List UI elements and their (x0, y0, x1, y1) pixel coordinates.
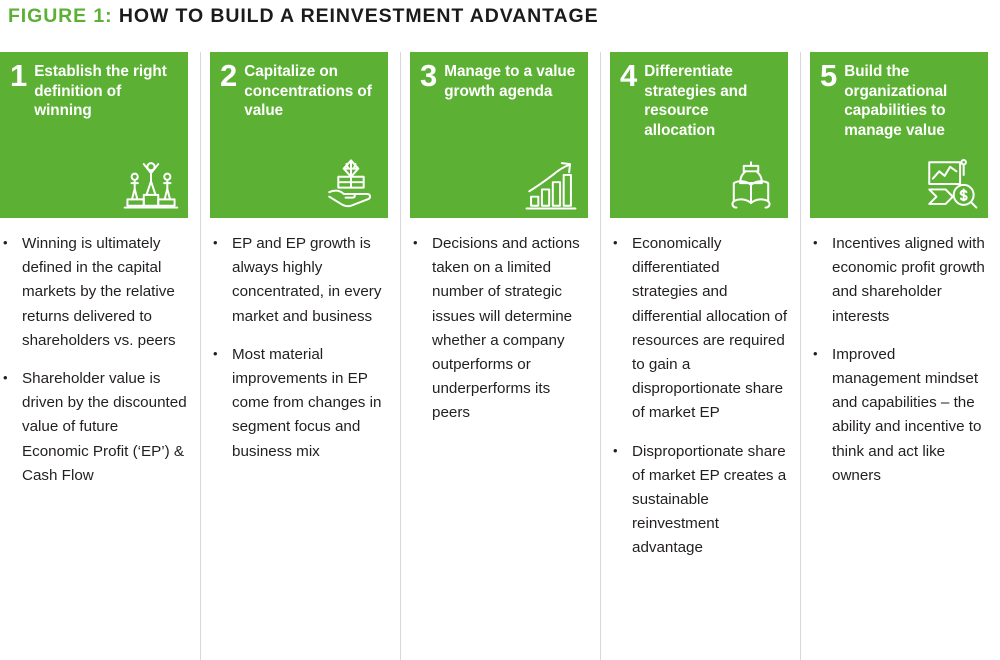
card-2-title: Capitalize on concentrations of value (244, 62, 378, 121)
card-5: 5 Build the organizational capabilities … (810, 52, 988, 218)
card-2: 2 Capitalize on concentrations of value (210, 52, 388, 218)
card-5-title: Build the organizational capabilities to… (844, 62, 978, 140)
card-2-number: 2 (220, 61, 237, 91)
list-item: Improved management mindset and capabili… (810, 343, 988, 488)
card-1-head: 1 Establish the right definition of winn… (10, 62, 178, 121)
figure-headline: HOW TO BUILD A REINVESTMENT ADVANTAGE (119, 5, 599, 27)
card-3-head: 3 Manage to a value growth agenda (420, 62, 578, 101)
hand-holding-gem-icon (322, 155, 380, 213)
list-item: EP and EP growth is always highly concen… (210, 232, 388, 329)
column-5: 5 Build the organizational capabilities … (800, 52, 1000, 660)
card-4-head: 4 Differentiate strategies and resource … (620, 62, 778, 140)
chess-strategy-icon (722, 155, 780, 213)
card-2-head: 2 Capitalize on concentrations of value (220, 62, 378, 121)
bullet-list-5: Incentives aligned with economic profit … (810, 218, 988, 488)
bullet-list-3: Decisions and actions taken on a limited… (410, 218, 588, 426)
list-item: Disproportionate share of market EP crea… (610, 440, 788, 561)
list-item: Winning is ultimately defined in the cap… (0, 232, 188, 353)
bullet-list-4: Economically differentiated strategies a… (610, 218, 788, 561)
column-1: 1 Establish the right definition of winn… (0, 52, 200, 660)
chart-dollar-magnifier-icon (922, 155, 980, 213)
page-title: FIGURE 1: HOW TO BUILD A REINVESTMENT AD… (8, 2, 599, 30)
bullet-list-2: EP and EP growth is always highly concen… (210, 218, 388, 464)
bullet-list-1: Winning is ultimately defined in the cap… (0, 218, 188, 488)
card-4-title: Differentiate strategies and resource al… (644, 62, 778, 140)
card-3: 3 Manage to a value growth agenda (410, 52, 588, 218)
list-item: Decisions and actions taken on a limited… (410, 232, 588, 426)
figure-label: FIGURE 1: (8, 5, 113, 27)
figure-page: FIGURE 1: HOW TO BUILD A REINVESTMENT AD… (0, 0, 1000, 660)
columns-container: 1 Establish the right definition of winn… (0, 52, 1000, 660)
list-item: Most material improvements in EP come fr… (210, 343, 388, 464)
list-item: Incentives aligned with economic profit … (810, 232, 988, 329)
card-3-number: 3 (420, 61, 437, 91)
card-4: 4 Differentiate strategies and resource … (610, 52, 788, 218)
card-1-number: 1 (10, 61, 27, 91)
list-item: Economically differentiated strategies a… (610, 232, 788, 426)
card-4-number: 4 (620, 61, 637, 91)
list-item: Shareholder value is driven by the disco… (0, 367, 188, 488)
card-5-number: 5 (820, 61, 837, 91)
column-2: 2 Capitalize on concentrations of value (200, 52, 400, 660)
growth-bar-chart-icon (522, 155, 580, 213)
column-3: 3 Manage to a value growth agenda (400, 52, 600, 660)
card-5-head: 5 Build the organizational capabilities … (820, 62, 978, 140)
winners-podium-icon (122, 155, 180, 213)
card-1: 1 Establish the right definition of winn… (0, 52, 188, 218)
card-3-title: Manage to a value growth agenda (444, 62, 578, 101)
card-1-title: Establish the right definition of winnin… (34, 62, 178, 121)
column-4: 4 Differentiate strategies and resource … (600, 52, 800, 660)
